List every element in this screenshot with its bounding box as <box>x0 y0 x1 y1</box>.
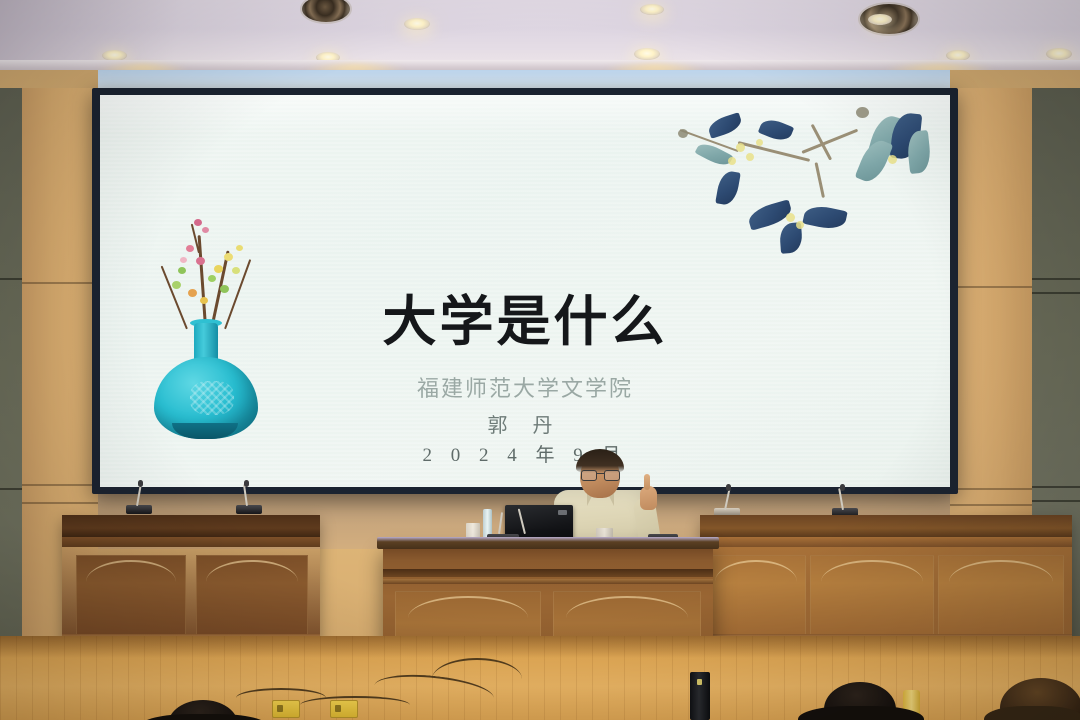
lecture-hall-scene: 大学是什么 福建师范大学文学院 郭 丹 2 0 2 4 年 9 月 <box>0 0 1080 720</box>
wall-seam <box>1032 292 1080 294</box>
power-strip-icon <box>272 700 300 718</box>
microphone-head <box>840 484 845 491</box>
stand-indicator <box>697 679 702 685</box>
panel-arch-curve <box>566 596 689 618</box>
microphone-icon <box>126 505 152 514</box>
wall-panel-olive-left <box>0 88 22 668</box>
table-rail <box>700 537 1072 547</box>
podium-rail <box>383 579 713 584</box>
slide-date: 2 0 2 4 年 9 月 <box>100 440 950 467</box>
panel-arch-curve <box>821 560 923 582</box>
wall-seam <box>22 282 98 284</box>
table-panel <box>706 555 806 635</box>
projection-screen-bezel: 大学是什么 福建师范大学文学院 郭 丹 2 0 2 4 年 9 月 <box>92 88 958 494</box>
wall-seam <box>1032 500 1080 502</box>
table-rail <box>700 515 1072 537</box>
ceiling-downlight-icon <box>404 18 430 30</box>
ceiling-downlight-icon <box>1046 48 1072 60</box>
wall-seam <box>950 504 1032 506</box>
branch-icon <box>620 95 950 285</box>
podium-top-surface <box>377 537 719 549</box>
leaf-icon <box>758 116 794 145</box>
wall-seam <box>22 502 98 504</box>
table-rail <box>62 515 320 537</box>
ceiling-downlight-icon <box>868 14 892 25</box>
laptop-logo <box>558 510 567 515</box>
speaker-stand-icon <box>690 672 710 720</box>
projection-screen[interactable]: 大学是什么 福建师范大学文学院 郭 丹 2 0 2 4 年 9 月 <box>100 95 950 487</box>
table-panel <box>196 555 308 635</box>
presenter-finger <box>644 474 650 490</box>
audience-shoulder <box>798 706 924 720</box>
podium-rail <box>383 569 713 577</box>
wall-seam <box>950 488 1032 490</box>
microphone-icon <box>236 505 262 514</box>
table-panel <box>810 555 934 635</box>
panel-arch-curve <box>715 560 797 582</box>
side-table-right <box>700 515 1072 643</box>
leaf-icon <box>715 170 741 207</box>
wall-seam <box>950 286 1032 288</box>
slide-organization: 福建师范大学文学院 <box>100 371 950 403</box>
panel-arch-curve <box>408 596 529 618</box>
table-rail <box>62 537 320 547</box>
slide-author: 郭 丹 <box>100 409 950 438</box>
wall-seam <box>22 484 98 486</box>
audience-shoulder <box>984 706 1080 720</box>
cable-icon <box>432 658 522 700</box>
panel-arch-curve <box>949 560 1053 582</box>
leaf-icon <box>695 139 734 169</box>
leaf-icon <box>706 112 744 139</box>
microphone-head <box>244 480 249 487</box>
microphone-head <box>138 480 143 487</box>
table-panel <box>938 555 1064 635</box>
floor-shadow <box>0 636 1080 658</box>
wall-seam <box>0 488 22 490</box>
side-table-left <box>62 515 320 643</box>
table-panel <box>76 555 186 635</box>
panel-arch-curve <box>86 560 177 582</box>
wall-seam <box>1032 278 1080 280</box>
ceiling-downlight-icon <box>634 48 660 60</box>
wall-seam <box>1032 486 1080 488</box>
glasses-icon <box>581 470 619 479</box>
slide-title: 大学是什么 <box>100 277 950 356</box>
wall-seam <box>0 278 22 280</box>
panel-arch-curve <box>206 560 298 582</box>
power-strip-icon <box>330 700 358 718</box>
microphone-head <box>726 484 731 491</box>
ceiling-downlight-icon <box>640 4 664 15</box>
leaf-icon <box>802 203 847 232</box>
